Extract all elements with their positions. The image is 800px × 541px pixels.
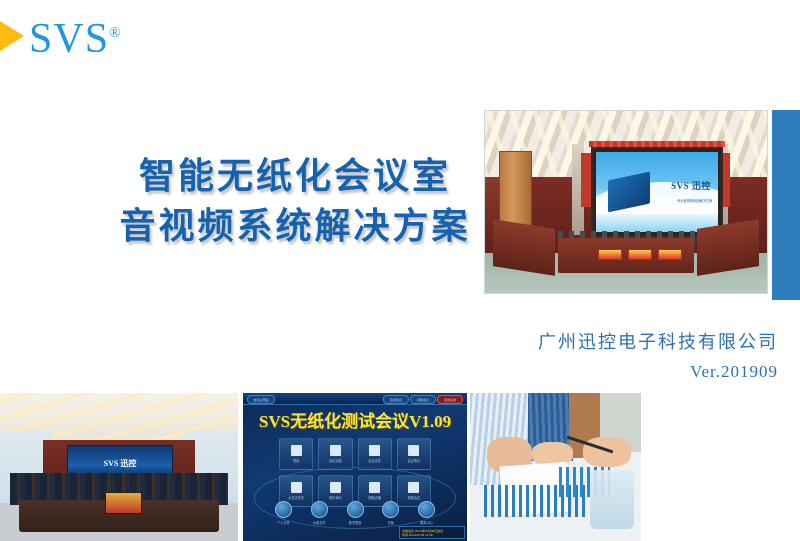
hero-screen-tablet-graphic xyxy=(608,172,650,213)
p2-topbar-button-2[interactable]: 退出系统 xyxy=(437,395,463,404)
hero-table-right xyxy=(697,219,759,276)
p2-status-panel: 当前会议:2019年05月08日会议 时间:2019-05-08 14:28 xyxy=(399,526,465,539)
p2-menu-label-1: 会议议程 xyxy=(329,458,342,463)
logo-text-label: SVS xyxy=(29,16,109,62)
bottom-image-strip: SVS 迅控 会议主界面 签到会议 视频会议 退出系统 SVS无纸化测试会议V1… xyxy=(0,393,800,541)
p3-hand-3 xyxy=(583,437,631,467)
camera-icon xyxy=(369,482,380,493)
hero-led-screen: SVS 迅控 专业音视频系统解决方案 xyxy=(591,147,724,236)
user-file-icon xyxy=(275,501,292,518)
strip-panel-conference-room: SVS 迅控 xyxy=(0,393,238,541)
p2-dock-item-4[interactable]: 服务中心 xyxy=(418,501,435,525)
document-icon xyxy=(330,445,341,456)
p2-dock-label-0: 个人文件 xyxy=(277,520,290,525)
sync-icon xyxy=(330,482,341,493)
p2-menu-label-4: 公共文件夹 xyxy=(288,495,304,500)
p2-dock-bar: 个人文件 公用文件 表决签到 白板 服务中心 xyxy=(275,501,435,525)
shared-file-icon xyxy=(311,501,328,518)
p2-dock-label-2: 表决签到 xyxy=(349,520,362,525)
folder-icon xyxy=(291,482,302,493)
p2-menu-label-6: 视频点播 xyxy=(368,495,381,500)
strip-panel-software-ui: 会议主界面 签到会议 视频会议 退出系统 SVS无纸化测试会议V1.09 签到 … xyxy=(243,393,467,541)
p1-laptop xyxy=(105,492,143,515)
p2-dock-item-1[interactable]: 公用文件 xyxy=(311,501,328,525)
svs-logo: SVS® xyxy=(0,14,121,58)
presentation-cover-slide: SVS® 智能无纸化会议室 音视频系统解决方案 SVS 迅控 专业音视频系统解决… xyxy=(0,0,800,541)
service-icon xyxy=(418,501,435,518)
p2-topbar-left-button[interactable]: 会议主界面 xyxy=(247,395,275,404)
p2-menu-label-7: 视频会议 xyxy=(408,495,421,500)
p2-menu-item-3[interactable]: 会议笔记 xyxy=(397,438,431,470)
hero-desk-box xyxy=(598,249,622,260)
registered-trademark-icon: ® xyxy=(109,25,121,41)
hero-led-screen-content: SVS 迅控 专业音视频系统解决方案 xyxy=(596,152,719,231)
p2-dock-label-1: 公用文件 xyxy=(313,520,326,525)
video-icon xyxy=(408,482,419,493)
whiteboard-icon xyxy=(382,501,399,518)
p2-dock-label-3: 白板 xyxy=(388,520,394,525)
title-line-2: 音视频系统解决方案 xyxy=(110,202,480,252)
hero-conference-room-image: SVS 迅控 专业音视频系统解决方案 xyxy=(484,110,768,294)
logo-triangle-icon xyxy=(0,21,24,51)
p3-water-glass xyxy=(590,470,634,529)
note-icon xyxy=(408,445,419,456)
p2-dock-item-2[interactable]: 表决签到 xyxy=(347,501,364,525)
p2-top-toolbar: 会议主界面 签到会议 视频会议 退出系统 xyxy=(243,393,467,405)
p2-topbar-button-0[interactable]: 签到会议 xyxy=(383,395,409,404)
hero-desk-box xyxy=(628,249,652,260)
p2-dock-item-0[interactable]: 个人文件 xyxy=(275,501,292,525)
p2-menu-label-0: 签到 xyxy=(293,458,299,463)
vote-icon xyxy=(347,501,364,518)
hero-flag-left xyxy=(581,153,591,208)
hero-screen-subtitle: 专业音视频系统解决方案 xyxy=(677,198,712,203)
p2-menu-label-3: 会议笔记 xyxy=(408,458,421,463)
p2-menu-label-2: 会议文件 xyxy=(368,458,381,463)
logo-wordmark: SVS® xyxy=(29,12,121,60)
p2-status-line-2: 时间:2019-05-08 14:28 xyxy=(402,533,464,537)
company-name: 广州迅控电子科技有限公司 xyxy=(538,328,778,354)
clipboard-icon xyxy=(291,445,302,456)
hero-screen-logo-label: SVS 迅控 xyxy=(671,179,711,192)
hero-desk-box xyxy=(658,249,682,260)
page-title: 智能无纸化会议室 音视频系统解决方案 xyxy=(110,152,480,252)
right-accent-bar xyxy=(772,110,800,300)
version-label: Ver.201909 xyxy=(690,362,778,382)
p1-screen-label: SVS 迅控 xyxy=(104,458,137,469)
hero-table-left xyxy=(493,219,555,276)
title-line-1: 智能无纸化会议室 xyxy=(110,152,480,202)
p2-app-title: SVS无纸化测试会议V1.09 xyxy=(243,407,467,432)
folder-search-icon xyxy=(369,445,380,456)
p2-dock-label-4: 服务中心 xyxy=(420,520,433,525)
p2-dock-item-3[interactable]: 白板 xyxy=(382,501,399,525)
p2-menu-item-0[interactable]: 签到 xyxy=(279,438,313,470)
strip-panel-team-collaboration xyxy=(470,393,641,541)
p2-topbar-button-1[interactable]: 视频会议 xyxy=(410,395,436,404)
p2-menu-label-5: 同步演示 xyxy=(329,495,342,500)
hero-desk-boxes xyxy=(598,249,683,258)
p2-menu-item-2[interactable]: 会议文件 xyxy=(358,438,392,470)
p2-menu-item-1[interactable]: 会议议程 xyxy=(318,438,352,470)
p2-menu-grid: 签到 会议议程 会议文件 会议笔记 公共文件夹 同步演示 视频点播 视频会议 xyxy=(279,438,431,507)
